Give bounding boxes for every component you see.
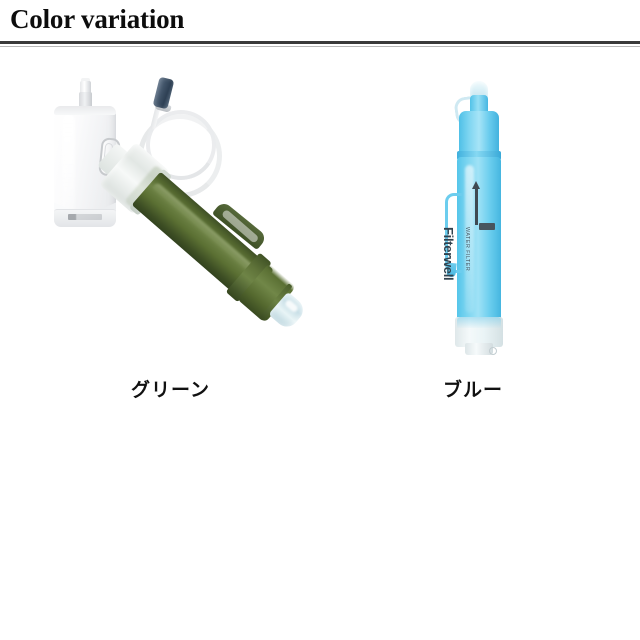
blue-foot-nub (489, 347, 497, 355)
blue-brand-text: Filterwell (442, 227, 456, 297)
blue-bottom-cap-tint (457, 317, 501, 328)
page-title: Color variation (10, 4, 184, 35)
pouch-top-seam (54, 106, 116, 115)
product-green-filter (96, 142, 320, 342)
section-header: Color variation (0, 0, 640, 48)
pouch-highlight (62, 114, 75, 214)
caption-blue: ブルー (443, 375, 503, 402)
tube-connector (153, 77, 175, 110)
blue-brand-subtext: WATER FILTER (460, 227, 470, 293)
caption-green: グリーン (131, 375, 210, 402)
product-blue-filter: Filterwell WATER FILTER (443, 81, 513, 353)
product-gallery: Filterwell WATER FILTER グリーン ブルー (0, 48, 640, 640)
flow-direction-arrow-shaft (475, 187, 478, 225)
blue-brand-badge (479, 223, 495, 230)
header-divider-thick (0, 41, 640, 44)
header-divider-thin (0, 46, 640, 47)
